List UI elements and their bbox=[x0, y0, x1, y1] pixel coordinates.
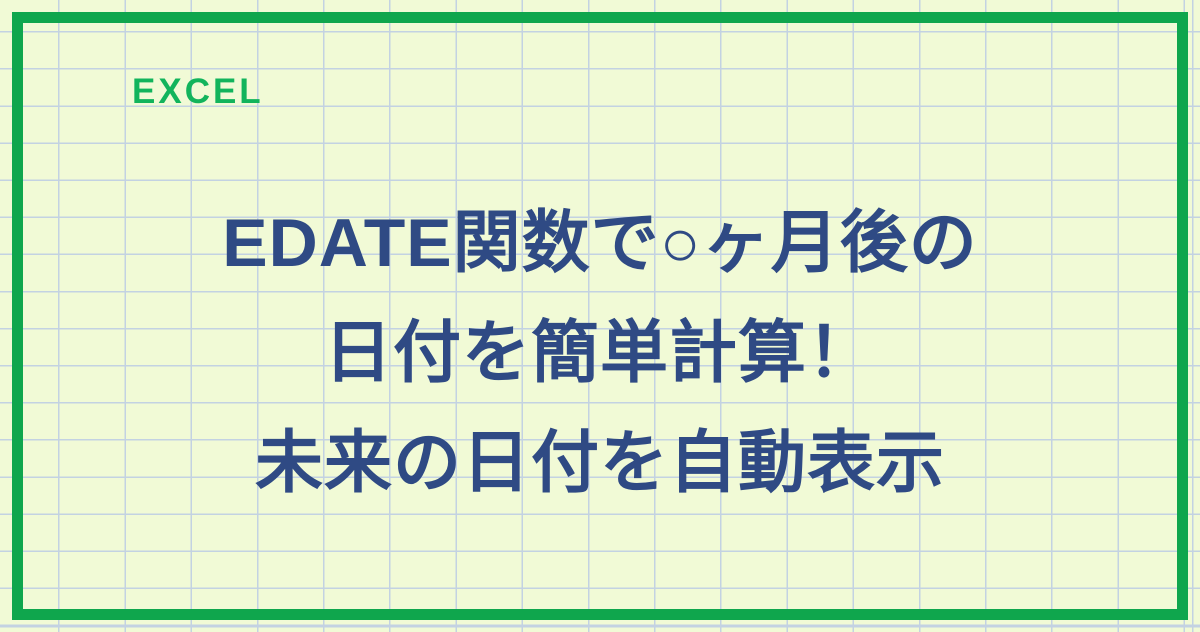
title-line-3: 未来の日付を自動表示 bbox=[12, 408, 1188, 518]
page-title: EDATE関数で○ヶ月後の 日付を簡単計算！ 未来の日付を自動表示 bbox=[12, 188, 1188, 518]
article-thumbnail-card: EXCEL EDATE関数で○ヶ月後の 日付を簡単計算！ 未来の日付を自動表示 bbox=[0, 0, 1200, 632]
category-label-excel: EXCEL bbox=[132, 74, 264, 109]
title-line-2: 日付を簡単計算！ bbox=[12, 298, 1188, 408]
title-line-1: EDATE関数で○ヶ月後の bbox=[12, 188, 1188, 298]
card-content-area: EXCEL EDATE関数で○ヶ月後の 日付を簡単計算！ 未来の日付を自動表示 bbox=[12, 12, 1188, 620]
